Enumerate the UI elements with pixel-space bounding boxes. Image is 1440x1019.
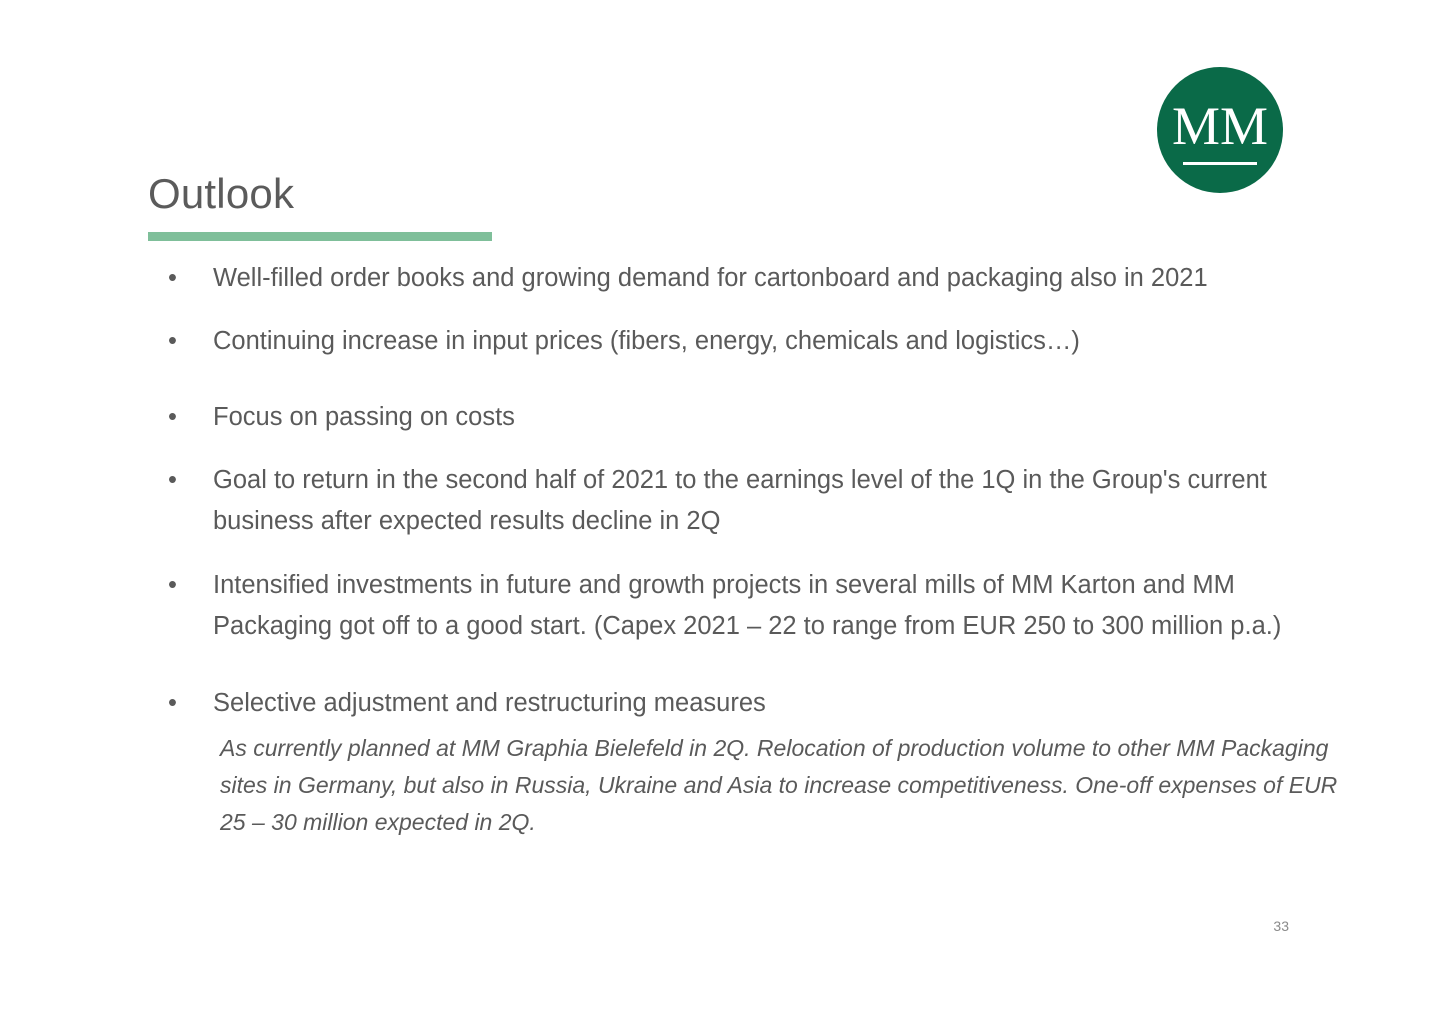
list-item: • Goal to return in the second half of 2… xyxy=(148,460,1338,542)
list-item-text: Intensified investments in future and gr… xyxy=(213,565,1338,647)
slide: MM Outlook • Well-filled order books and… xyxy=(0,0,1440,1019)
list-item-subnote: As currently planned at MM Graphia Biele… xyxy=(148,730,1338,841)
list-item-text: Continuing increase in input prices (fib… xyxy=(213,321,1338,362)
mm-logo-wordmark: MM xyxy=(1172,99,1268,153)
list-item: • Continuing increase in input prices (f… xyxy=(148,321,1338,362)
list-item: • Intensified investments in future and … xyxy=(148,565,1338,647)
list-item-text: Goal to return in the second half of 202… xyxy=(213,460,1338,542)
list-item: • Well-filled order books and growing de… xyxy=(148,258,1338,299)
list-item-text: Well-filled order books and growing dema… xyxy=(213,258,1338,299)
title-accent-bar xyxy=(148,232,492,241)
bullet-marker-icon: • xyxy=(168,683,188,724)
mm-logo-underline xyxy=(1183,162,1257,165)
list-item: • Focus on passing on costs xyxy=(148,397,1338,438)
page-number: 33 xyxy=(1273,918,1289,934)
bullet-marker-icon: • xyxy=(168,460,188,501)
bullet-marker-icon: • xyxy=(168,321,188,362)
bullet-marker-icon: • xyxy=(168,565,188,606)
list-item: • Selective adjustment and restructuring… xyxy=(148,683,1338,724)
list-item-text: Focus on passing on costs xyxy=(213,397,1338,438)
page-title: Outlook xyxy=(148,172,294,216)
bullet-list: • Well-filled order books and growing de… xyxy=(148,258,1338,841)
list-item-text: Selective adjustment and restructuring m… xyxy=(213,683,1338,724)
mm-logo: MM xyxy=(1157,67,1283,193)
bullet-marker-icon: • xyxy=(168,397,188,438)
bullet-marker-icon: • xyxy=(168,258,188,299)
